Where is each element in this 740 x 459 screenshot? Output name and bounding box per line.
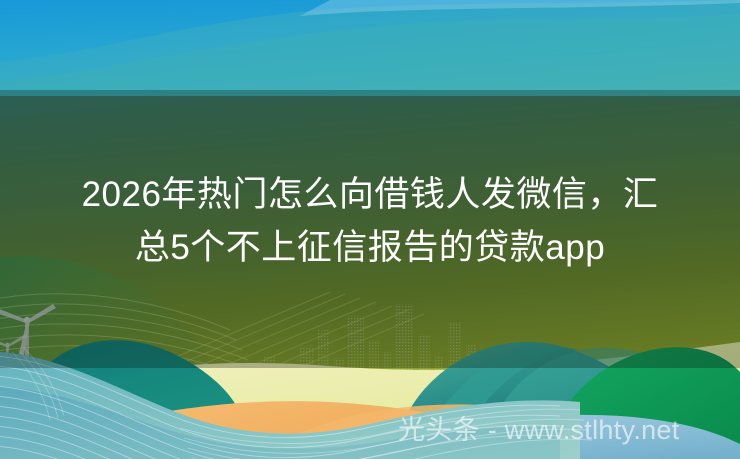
watermark-text: 光头条 - www.stlhty.net [398, 414, 680, 446]
dim-overlay-band [0, 90, 740, 368]
poster-image: 2026年热门怎么向借钱人发微信，汇 总5个不上征信报告的贷款app 光头条 -… [0, 0, 740, 459]
